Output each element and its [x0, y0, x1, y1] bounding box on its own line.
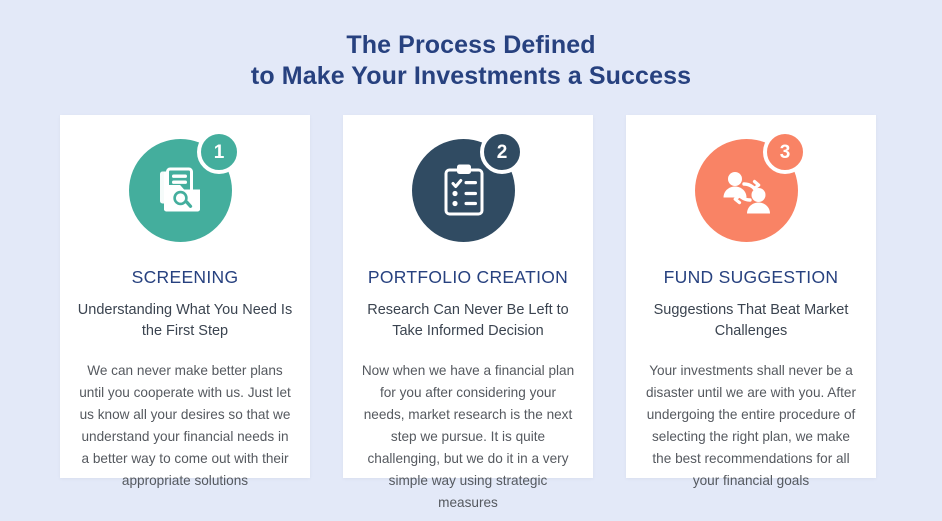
process-card-fund-suggestion[interactable]: 3 FUND SUGGESTION Suggestions That Beat … [626, 115, 876, 478]
step-badge: 3 [763, 130, 807, 174]
card-subtitle: Research Can Never Be Left to Take Infor… [361, 300, 576, 342]
process-defined-section: The Process Defined to Make Your Investm… [0, 0, 942, 521]
card-body-text: We can never make better plans until you… [76, 360, 294, 492]
card-title: FUND SUGGESTION [664, 266, 839, 288]
step-badge-number: 3 [780, 143, 791, 162]
step-badge-number: 2 [497, 143, 508, 162]
card-title: PORTFOLIO CREATION [368, 266, 568, 288]
card-subtitle: Understanding What You Need Is the First… [78, 300, 293, 342]
process-card-screening[interactable]: 1 SCREENING Understanding What You Need … [60, 115, 310, 478]
document-search-icon [153, 163, 209, 219]
card-subtitle: Suggestions That Beat Market Challenges [644, 300, 859, 342]
clipboard-checklist-icon [438, 163, 490, 219]
page-title: The Process Defined to Make Your Investm… [0, 30, 942, 92]
process-card-list: 1 SCREENING Understanding What You Need … [60, 115, 876, 478]
people-exchange-icon [718, 164, 776, 218]
icon-badge-cluster: 2 [412, 130, 524, 242]
card-title: SCREENING [132, 266, 239, 288]
icon-badge-cluster: 3 [695, 130, 807, 242]
card-body-text: Your investments shall never be a disast… [642, 360, 860, 492]
page-title-line-2: to Make Your Investments a Success [0, 61, 942, 92]
card-body-text: Now when we have a financial plan for yo… [359, 360, 577, 514]
step-badge: 2 [480, 130, 524, 174]
process-card-portfolio-creation[interactable]: 2 PORTFOLIO CREATION Research Can Never … [343, 115, 593, 478]
icon-badge-cluster: 1 [129, 130, 241, 242]
page-title-line-1: The Process Defined [0, 30, 942, 61]
step-badge-number: 1 [214, 143, 225, 162]
step-badge: 1 [197, 130, 241, 174]
